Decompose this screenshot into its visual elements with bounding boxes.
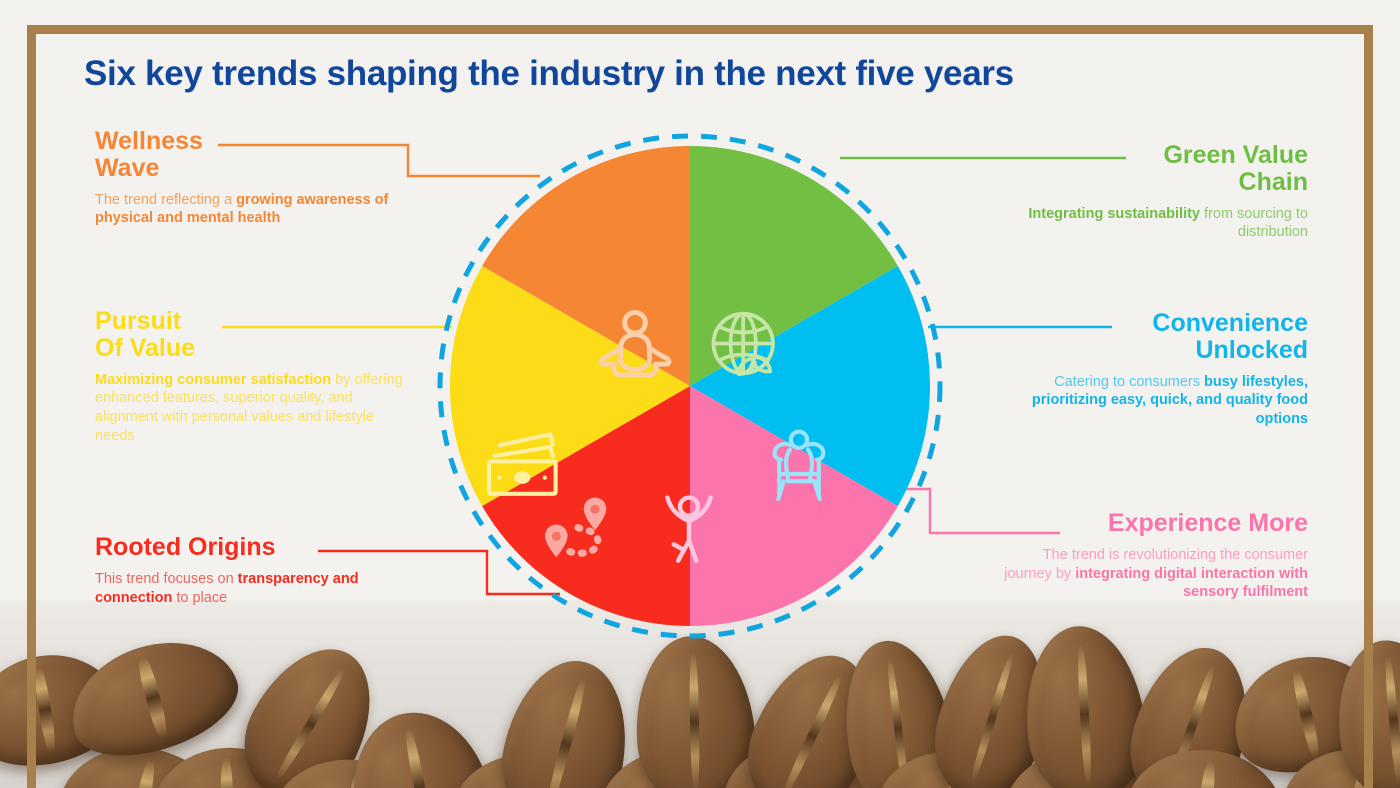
- trend-heading-line2: Unlocked: [1195, 336, 1308, 364]
- trend-heading-line1: Experience More: [1108, 509, 1308, 537]
- trend-body-pursuit: Maximizing consumer satisfaction by offe…: [95, 371, 405, 446]
- trend-body-convenience: Catering to consumers busy lifestyles, p…: [1000, 373, 1308, 430]
- body-tail: from sourcing to distribution: [1200, 206, 1308, 241]
- trend-heading-green: Green Value Chain: [1000, 142, 1308, 196]
- infographic-page: Six key trends shaping the industry in t…: [0, 0, 1400, 788]
- trend-body-experience: The trend is revolutionizing the consume…: [1000, 546, 1308, 603]
- trend-heading-line1: Green Value: [1163, 141, 1308, 169]
- frame-border-left: [27, 25, 36, 788]
- trend-body-wellness: The trend reflecting a growing awareness…: [95, 191, 395, 229]
- trend-heading-rooted: Rooted Origins: [95, 534, 395, 561]
- frame-border-right: [1364, 25, 1373, 788]
- body-tail: to place: [172, 590, 227, 606]
- trend-heading-line1: Wellness: [95, 127, 203, 155]
- trend-heading-line1: Rooted Origins: [95, 533, 276, 561]
- trend-block-rooted: Rooted Origins This trend focuses on tra…: [95, 534, 395, 607]
- trend-body-rooted: This trend focuses on transparency and c…: [95, 570, 395, 608]
- trend-block-convenience: Convenience Unlocked Catering to consume…: [1000, 310, 1308, 429]
- body-bold: Maximizing consumer satisfaction: [95, 372, 331, 388]
- trend-heading-line1: Pursuit: [95, 307, 181, 335]
- trend-heading-line2: Of Value: [95, 334, 195, 362]
- trend-block-green: Green Value Chain Integrating sustainabi…: [1000, 142, 1308, 242]
- trend-body-green: Integrating sustainability from sourcing…: [1000, 205, 1308, 243]
- trend-block-pursuit: Pursuit Of Value Maximizing consumer sat…: [95, 308, 405, 446]
- pie-chart: [450, 146, 930, 626]
- trend-wheel: [432, 128, 948, 644]
- trend-heading-wellness: Wellness Wave: [95, 128, 395, 182]
- body-lead: This trend focuses on: [95, 571, 238, 587]
- page-title: Six key trends shaping the industry in t…: [84, 54, 1324, 93]
- body-lead: The trend reflecting a: [95, 192, 236, 208]
- frame-border-top: [27, 25, 1373, 34]
- body-lead: Catering to consumers: [1054, 374, 1204, 390]
- trend-heading-pursuit: Pursuit Of Value: [95, 308, 405, 362]
- body-bold: Integrating sustainability: [1028, 206, 1200, 222]
- trend-heading-line2: Wave: [95, 154, 159, 182]
- trend-heading-convenience: Convenience Unlocked: [1000, 310, 1308, 364]
- trend-heading-line2: Chain: [1239, 168, 1308, 196]
- trend-heading-line1: Convenience: [1152, 309, 1308, 337]
- trend-heading-experience: Experience More: [1000, 510, 1308, 537]
- trend-block-wellness: Wellness Wave The trend reflecting a gro…: [95, 128, 395, 228]
- trend-block-experience: Experience More The trend is revolutioni…: [1000, 510, 1308, 602]
- body-bold: integrating digital interaction with sen…: [1075, 566, 1308, 601]
